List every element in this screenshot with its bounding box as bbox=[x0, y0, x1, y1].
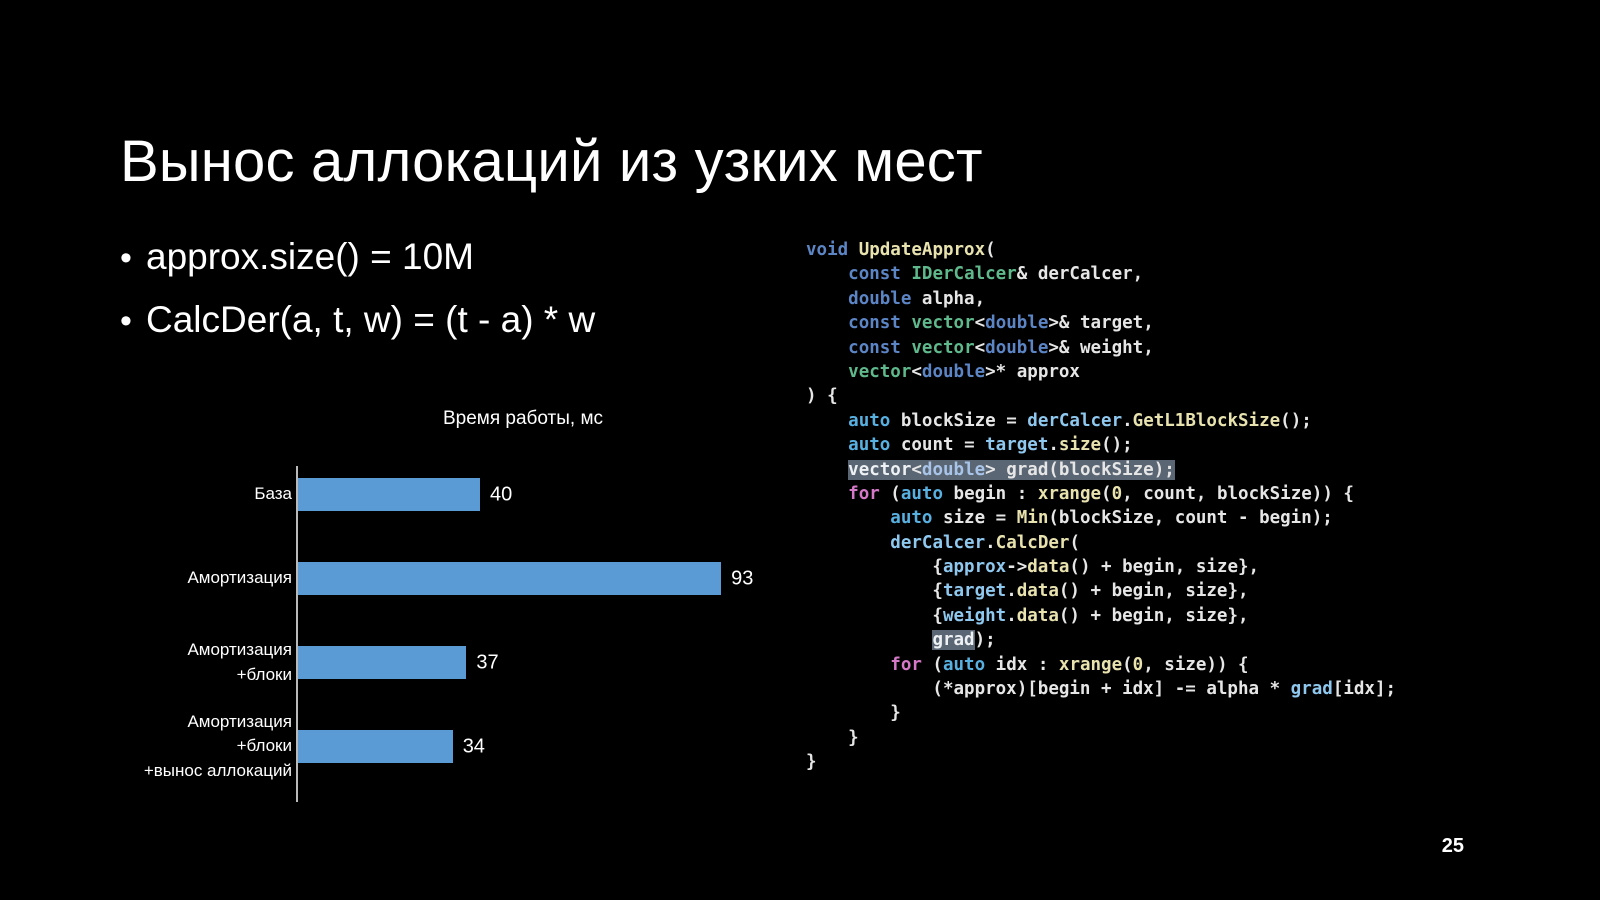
code-token: UpdateApprox bbox=[859, 240, 985, 260]
code-token: > grad(blockSize); bbox=[985, 460, 1175, 480]
code-token: GetL1BlockSize bbox=[1133, 411, 1281, 431]
code-token: [idx]; bbox=[1333, 679, 1396, 699]
code-token: ( bbox=[880, 484, 901, 504]
code-token: } bbox=[806, 703, 901, 723]
code-token: for bbox=[848, 484, 880, 504]
code-token: (blockSize, count - begin); bbox=[1048, 508, 1332, 528]
code-highlight: grad bbox=[932, 630, 974, 650]
code-token: -> bbox=[1006, 557, 1027, 577]
chart-bar-track: 93 bbox=[298, 562, 721, 595]
code-token: >& target, bbox=[1048, 313, 1153, 333]
code-token bbox=[806, 435, 848, 455]
code-token: . bbox=[985, 533, 996, 553]
code-line: derCalcer.CalcDer( bbox=[806, 531, 1396, 555]
code-token: } bbox=[806, 752, 817, 772]
code-token: , size)) { bbox=[1143, 655, 1248, 675]
code-token: double bbox=[985, 313, 1048, 333]
code-line: } bbox=[806, 726, 1396, 750]
list-item: •approx.size() = 10M bbox=[120, 236, 760, 277]
code-token: ( bbox=[1101, 484, 1112, 504]
code-token: IDerCalcer bbox=[911, 264, 1016, 284]
code-token bbox=[806, 362, 848, 382]
code-token: void bbox=[806, 240, 848, 260]
code-token bbox=[806, 460, 848, 480]
code-token: auto bbox=[848, 435, 890, 455]
code-token: derCalcer bbox=[1027, 411, 1122, 431]
code-token: < bbox=[975, 338, 986, 358]
code-token: auto bbox=[890, 508, 932, 528]
code-line: {target.data() + begin, size}, bbox=[806, 579, 1396, 603]
chart-plot-area: База40Амортизация93Амортизация +блоки37А… bbox=[118, 436, 798, 776]
code-token: 0 bbox=[1112, 484, 1123, 504]
chart-bar-item: Амортизация +блоки +вынос аллокаций34 bbox=[118, 730, 798, 763]
code-token: target bbox=[985, 435, 1048, 455]
code-token bbox=[806, 484, 848, 504]
code-token: . bbox=[1006, 581, 1017, 601]
code-token: >& weight, bbox=[1048, 338, 1153, 358]
code-token: CalcDer bbox=[996, 533, 1070, 553]
page-title: Вынос аллокаций из узких мест bbox=[120, 129, 983, 196]
code-line: {approx->data() + begin, size}, bbox=[806, 555, 1396, 579]
code-token: (); bbox=[1280, 411, 1312, 431]
code-token: , count, blockSize)) { bbox=[1122, 484, 1354, 504]
code-token: { bbox=[806, 557, 943, 577]
code-token: } bbox=[806, 728, 859, 748]
code-token bbox=[806, 289, 848, 309]
code-token: auto bbox=[943, 655, 985, 675]
code-token: derCalcer bbox=[890, 533, 985, 553]
code-token: ( bbox=[985, 240, 996, 260]
chart-bar-value: 37 bbox=[476, 651, 498, 674]
chart-bar-track: 34 bbox=[298, 730, 453, 763]
code-token: data bbox=[1017, 606, 1059, 626]
code-token bbox=[806, 630, 932, 650]
chart-bar bbox=[298, 730, 453, 763]
code-token: blockSize = bbox=[890, 411, 1027, 431]
code-token: (); bbox=[1101, 435, 1133, 455]
code-line: ) { bbox=[806, 384, 1396, 408]
code-token: const bbox=[848, 338, 901, 358]
code-token: () + begin, size}, bbox=[1059, 581, 1249, 601]
code-token: vector bbox=[911, 338, 974, 358]
code-token: & derCalcer, bbox=[1017, 264, 1143, 284]
chart-bar-item: База40 bbox=[118, 478, 798, 511]
chart-bar-track: 37 bbox=[298, 646, 466, 679]
code-token: weight bbox=[943, 606, 1006, 626]
chart-bar-item: Амортизация +блоки37 bbox=[118, 646, 798, 679]
code-token: begin : bbox=[943, 484, 1038, 504]
bullet-text: CalcDer(a, t, w) = (t - a) * w bbox=[146, 299, 595, 340]
code-token: xrange bbox=[1038, 484, 1101, 504]
bullet-marker-icon: • bbox=[120, 304, 146, 338]
code-token: . bbox=[1006, 606, 1017, 626]
code-token: data bbox=[1017, 581, 1059, 601]
code-token: () + begin, size}, bbox=[1059, 606, 1249, 626]
chart-category-label: Амортизация bbox=[92, 566, 292, 591]
code-token: const bbox=[848, 264, 901, 284]
chart-category-label: Амортизация +блоки +вынос аллокаций bbox=[92, 710, 292, 784]
code-token: ( bbox=[1069, 533, 1080, 553]
code-token: ) { bbox=[806, 386, 838, 406]
code-token: size bbox=[1059, 435, 1101, 455]
code-line: (*approx)[begin + idx] -= alpha * grad[i… bbox=[806, 677, 1396, 701]
code-token: < bbox=[911, 362, 922, 382]
code-line: const vector<double>& target, bbox=[806, 311, 1396, 335]
code-line: auto count = target.size(); bbox=[806, 433, 1396, 457]
code-line: const vector<double>& weight, bbox=[806, 336, 1396, 360]
code-token: . bbox=[1122, 411, 1133, 431]
code-token bbox=[806, 264, 848, 284]
slide: Вынос аллокаций из узких мест •approx.si… bbox=[0, 0, 1600, 900]
code-token: double bbox=[922, 460, 985, 480]
code-token: const bbox=[848, 313, 901, 333]
chart-bar-track: 40 bbox=[298, 478, 480, 511]
code-token: vector bbox=[848, 362, 911, 382]
chart-bar-value: 34 bbox=[463, 735, 485, 758]
code-line: vector<double>* approx bbox=[806, 360, 1396, 384]
code-token: grad bbox=[932, 630, 974, 650]
chart-bar bbox=[298, 478, 480, 511]
code-token: target bbox=[943, 581, 1006, 601]
code-token bbox=[901, 264, 912, 284]
code-token: vector bbox=[848, 460, 911, 480]
code-token: < bbox=[911, 460, 922, 480]
code-token: vector bbox=[911, 313, 974, 333]
chart-bar bbox=[298, 562, 721, 595]
code-token: Min bbox=[1017, 508, 1049, 528]
code-token bbox=[806, 533, 890, 553]
code-token: auto bbox=[848, 411, 890, 431]
code-token: xrange bbox=[1059, 655, 1122, 675]
code-line: void UpdateApprox( bbox=[806, 238, 1396, 262]
code-token bbox=[806, 338, 848, 358]
code-token: grad bbox=[1291, 679, 1333, 699]
chart-bar-value: 93 bbox=[731, 567, 753, 590]
code-token: double bbox=[848, 289, 911, 309]
code-token: auto bbox=[901, 484, 943, 504]
chart-category-label: Амортизация +блоки bbox=[92, 638, 292, 687]
code-token: ); bbox=[975, 630, 996, 650]
code-line: {weight.data() + begin, size}, bbox=[806, 604, 1396, 628]
code-token bbox=[806, 655, 890, 675]
code-token: < bbox=[975, 313, 986, 333]
list-item: •CalcDer(a, t, w) = (t - a) * w bbox=[120, 299, 760, 340]
code-token: data bbox=[1027, 557, 1069, 577]
code-token: ( bbox=[922, 655, 943, 675]
code-line: for (auto idx : xrange(0, size)) { bbox=[806, 653, 1396, 677]
code-token: (*approx)[begin + idx] -= alpha * bbox=[806, 679, 1291, 699]
code-token: >* approx bbox=[985, 362, 1080, 382]
code-token: { bbox=[806, 606, 943, 626]
bullet-list: •approx.size() = 10M•CalcDer(a, t, w) = … bbox=[120, 236, 760, 363]
code-line: for (auto begin : xrange(0, count, block… bbox=[806, 482, 1396, 506]
bullet-marker-icon: • bbox=[120, 241, 146, 275]
code-line: grad); bbox=[806, 628, 1396, 652]
code-token: approx bbox=[943, 557, 1006, 577]
code-token: 0 bbox=[1133, 655, 1144, 675]
code-token: () + begin, size}, bbox=[1069, 557, 1259, 577]
chart-bar-value: 40 bbox=[490, 483, 512, 506]
code-token bbox=[806, 313, 848, 333]
code-block: void UpdateApprox( const IDerCalcer& der… bbox=[806, 238, 1396, 775]
bar-chart: Время работы, мс База40Амортизация93Амор… bbox=[118, 404, 798, 784]
code-token: { bbox=[806, 581, 943, 601]
code-line: auto size = Min(blockSize, count - begin… bbox=[806, 506, 1396, 530]
code-line: const IDerCalcer& derCalcer, bbox=[806, 262, 1396, 286]
code-highlight: vector<double> grad(blockSize); bbox=[848, 460, 1175, 480]
code-token bbox=[901, 313, 912, 333]
chart-bar-item: Амортизация93 bbox=[118, 562, 798, 595]
code-line: } bbox=[806, 750, 1396, 774]
code-token: alpha, bbox=[911, 289, 985, 309]
chart-bar bbox=[298, 646, 466, 679]
bullet-text: approx.size() = 10M bbox=[146, 236, 474, 277]
code-line: double alpha, bbox=[806, 287, 1396, 311]
code-token: for bbox=[890, 655, 922, 675]
code-token bbox=[901, 338, 912, 358]
code-line: vector<double> grad(blockSize); bbox=[806, 458, 1396, 482]
code-line: } bbox=[806, 701, 1396, 725]
code-token: size = bbox=[932, 508, 1016, 528]
code-token bbox=[848, 240, 859, 260]
chart-category-label: База bbox=[92, 482, 292, 507]
slide-number: 25 bbox=[1442, 835, 1464, 858]
code-token: ( bbox=[1122, 655, 1133, 675]
code-token: . bbox=[1048, 435, 1059, 455]
code-token: double bbox=[922, 362, 985, 382]
code-token bbox=[806, 508, 890, 528]
code-token: count = bbox=[890, 435, 985, 455]
code-token: idx : bbox=[985, 655, 1059, 675]
code-token bbox=[806, 411, 848, 431]
code-line: auto blockSize = derCalcer.GetL1BlockSiz… bbox=[806, 409, 1396, 433]
code-token: double bbox=[985, 338, 1048, 358]
